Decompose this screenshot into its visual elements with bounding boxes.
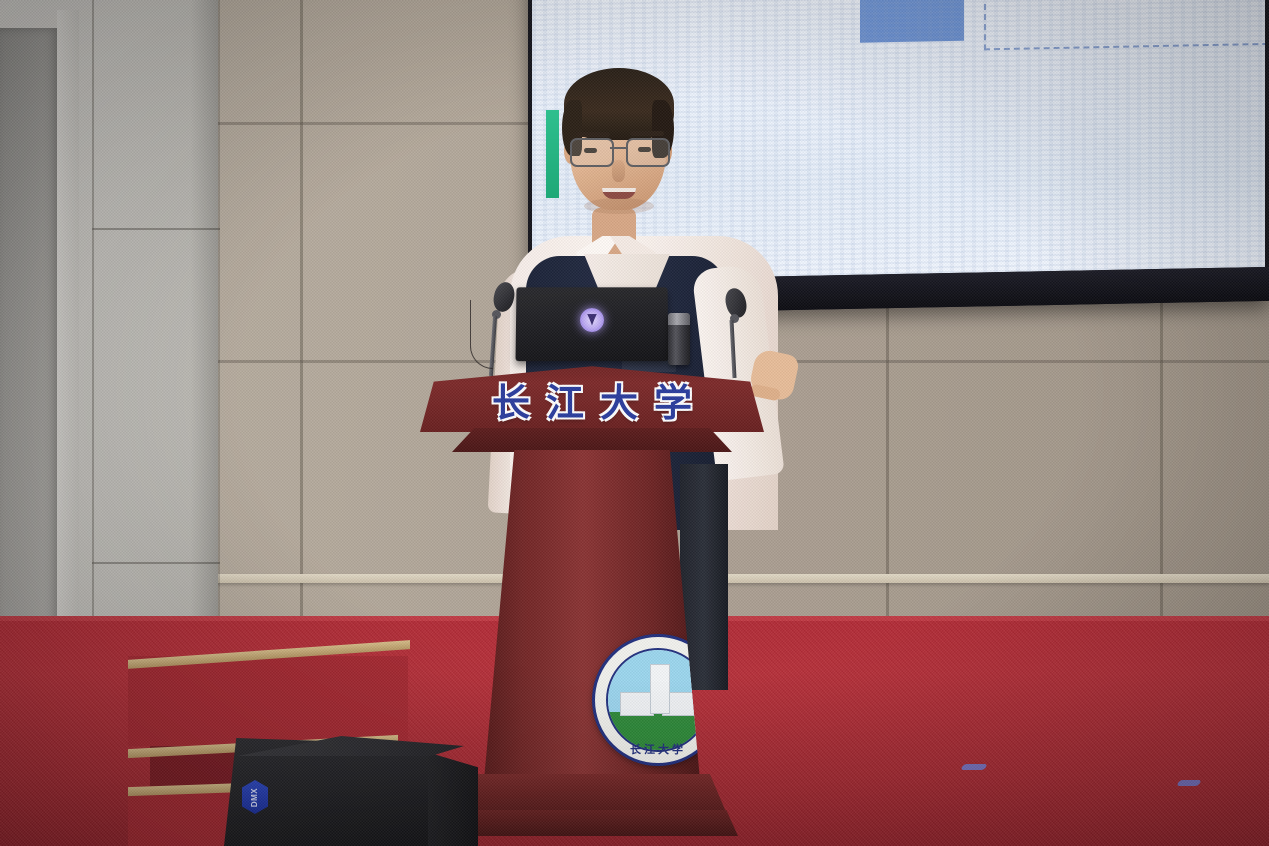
podium-shelf (452, 428, 732, 452)
eyebrow-right (630, 131, 664, 136)
podium-char-1: 长 (492, 372, 530, 427)
chin-shadow (584, 198, 654, 214)
podium-char-3: 大 (600, 372, 638, 427)
eyeglass-bridge (610, 147, 628, 149)
stage-monitor-speaker: DMX (224, 728, 478, 846)
thermos-bottle (668, 313, 690, 365)
door-frame (57, 10, 79, 650)
speaker-side-panel (420, 750, 478, 846)
lecture-hall-photo: 心 保持平常 对待每一 ... (0, 0, 1269, 846)
podium-name-plate: 长 江 大 学 (420, 370, 764, 428)
microphone-cable (470, 300, 493, 369)
wall-seam-vertical (1160, 250, 1163, 670)
emblem-inner-disc (606, 648, 710, 752)
eyebrow-left (576, 132, 610, 137)
floor-tape-mark (1176, 780, 1201, 786)
emblem-building-tower (650, 664, 670, 714)
floor-tape-mark (960, 764, 987, 770)
left-column-seam (92, 0, 94, 700)
door-recess (0, 28, 60, 628)
emblem-chinese-name: 长江大学 (595, 741, 721, 757)
podium-base-lower (446, 810, 738, 836)
thermos-cap (668, 313, 690, 325)
slide-dashed-box (984, 0, 1265, 50)
eyeglass-lens-right (626, 138, 670, 167)
speaker-brand-label: DMX (251, 787, 260, 806)
green-wall-strip (546, 110, 559, 198)
emblem-building-wing-left (620, 692, 654, 716)
laptop-logo-icon (580, 308, 604, 332)
laptop[interactable] (516, 287, 669, 361)
eyeglass-lens-left (570, 138, 614, 167)
left-column-shadow (190, 0, 220, 700)
podium-column: YANGTZE UNIVERSITY 长江大学 (484, 450, 700, 780)
microphone-head (491, 280, 517, 314)
wall-seam-vertical (886, 250, 889, 670)
podium-base-upper (458, 774, 726, 812)
podium-char-2: 江 (546, 372, 584, 427)
slide-sidebar-block: 心 (860, 0, 964, 43)
university-emblem: YANGTZE UNIVERSITY 长江大学 (592, 634, 724, 766)
wall-seam-vertical (300, 0, 303, 700)
nose (612, 160, 625, 182)
podium-char-4: 学 (654, 372, 692, 427)
